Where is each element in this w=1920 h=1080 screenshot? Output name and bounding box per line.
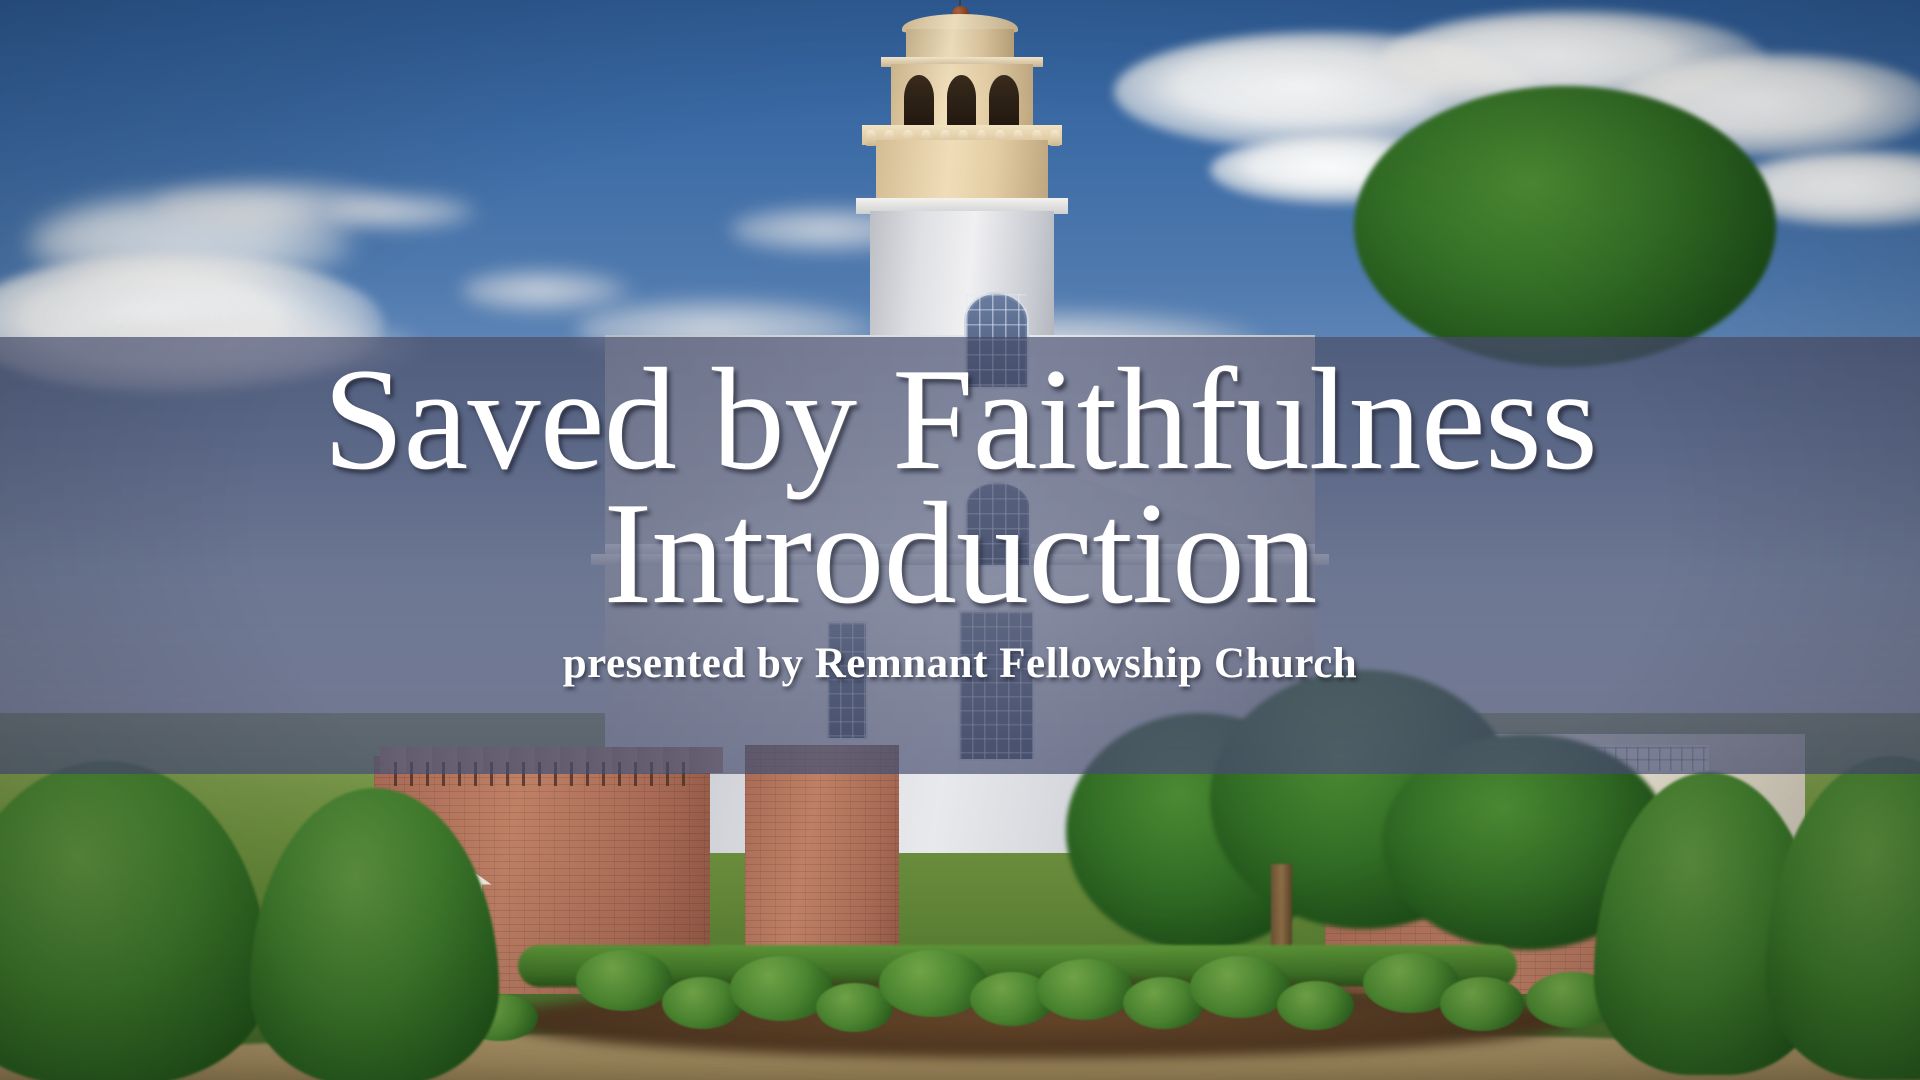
title-line-1: Saved by Faithfulness <box>323 348 1597 491</box>
shade-tree <box>1354 86 1776 367</box>
baluster <box>866 130 876 146</box>
belfry-arch-left <box>904 75 934 129</box>
belfry-arch-right <box>989 75 1019 129</box>
title-block: Saved by Faithfulness Introduction prese… <box>0 337 1920 774</box>
boxwood-shrub <box>1277 981 1354 1031</box>
boxwood-shrub <box>879 950 987 1017</box>
boxwood-shrub <box>576 950 672 1010</box>
title-line-2: Introduction <box>604 482 1317 625</box>
presenter-subtitle: presented by Remnant Fellowship Church <box>563 639 1358 688</box>
slide-canvas: Saved by Faithfulness Introduction prese… <box>0 0 1920 1080</box>
belfry-arch-center <box>947 75 977 129</box>
boxwood-shrub <box>1037 959 1133 1019</box>
boxwood-shrub <box>1190 956 1290 1019</box>
baluster <box>1050 130 1060 146</box>
